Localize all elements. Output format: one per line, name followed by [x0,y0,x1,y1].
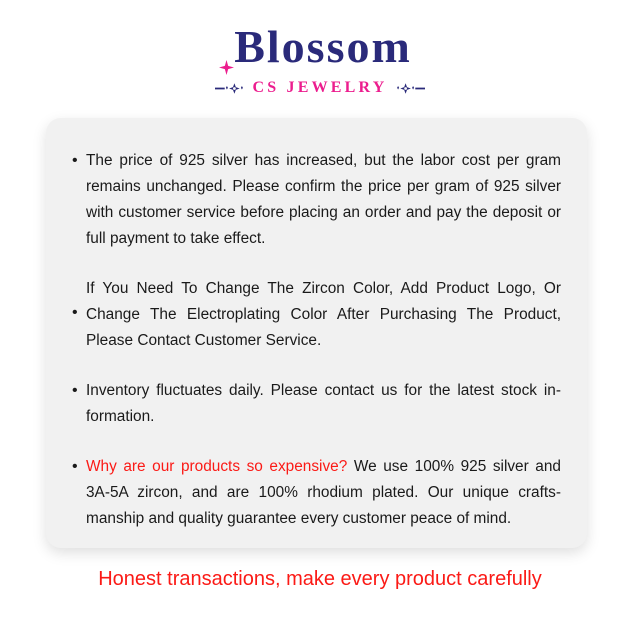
brand-name-text: Blossom [234,21,412,72]
notice-card: • The price of 925 silver has increased,… [46,118,587,548]
notice-highlight-question: Why are our products so expensive? [86,458,347,475]
sparkle-diamond-icon [219,37,234,52]
flourish-ornament-icon-right [395,82,425,95]
list-item: • If You Need To Change The Zircon Color… [72,276,561,354]
list-item: • Why are our products so expensive? We … [72,454,561,532]
footer-slogan: Honest transactions, make every product … [0,568,640,591]
list-item: • The price of 925 silver has increased,… [72,148,561,252]
bullet-icon: • [72,305,86,321]
notice-list: • The price of 925 silver has increased,… [72,148,561,532]
bullet-icon: • [72,378,86,404]
brand-subtitle-text: CS JEWELRY [252,79,387,97]
brand-header: Blossom CS JEWELRY [0,0,640,97]
notice-text-1: The price of 925 silver has increased, b… [86,148,561,252]
flourish-ornament-icon-left [215,82,245,95]
notice-text-3: Inventory fluctuates daily. Please conta… [86,378,561,430]
notice-text-4: Why are our products so expensive? We us… [86,454,561,532]
brand-subtitle: CS JEWELRY [0,79,640,97]
bullet-icon: • [72,454,86,480]
notice-text-2: If You Need To Change The Zircon Color, … [86,276,561,354]
bullet-icon: • [72,148,86,174]
brand-name: Blossom [228,24,412,70]
list-item: • Inventory fluctuates daily. Please con… [72,378,561,430]
